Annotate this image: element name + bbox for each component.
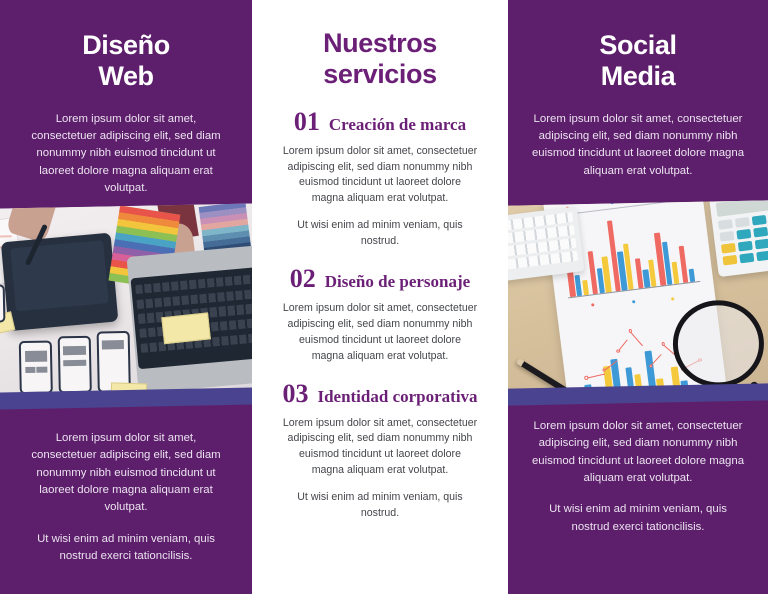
panel-diseno-web: Diseño Web Lorem ipsum dolor sit amet, c… [0, 0, 252, 594]
mid-title-line1: Nuestros [252, 28, 508, 59]
service-number: 03 [282, 381, 308, 407]
service-heading: 01 Creación de marca [252, 109, 508, 135]
right-panel-title: Social Media [508, 0, 768, 93]
right-panel-photo [508, 200, 768, 396]
right-bottom-paragraph-1: Lorem ipsum dolor sit amet, consectetuer… [530, 418, 746, 487]
right-intro-paragraph-1: Lorem ipsum dolor sit amet, consectetuer… [530, 111, 746, 180]
panel-social-media: Social Media Lorem ipsum dolor sit amet,… [508, 0, 768, 594]
left-bottom-paragraph-2: Ut wisi enim ad minim veniam, quis nostr… [22, 531, 230, 566]
panel-nuestros-servicios: Nuestros servicios 01 Creación de marca … [252, 0, 508, 594]
left-title-line2: Web [0, 61, 252, 92]
service-item: 01 Creación de marca Lorem ipsum dolor s… [252, 109, 508, 250]
left-panel-photo [0, 203, 252, 399]
middle-panel-title: Nuestros servicios [252, 0, 508, 91]
service-paragraph-1: Lorem ipsum dolor sit amet, consectetuer… [282, 301, 478, 365]
services-list: 01 Creación de marca Lorem ipsum dolor s… [252, 109, 508, 522]
mid-title-line2: servicios [252, 59, 508, 90]
service-heading: 03 Identidad corporativa [252, 381, 508, 407]
trifold-brochure: Diseño Web Lorem ipsum dolor sit amet, c… [0, 0, 768, 594]
service-number: 01 [294, 109, 320, 135]
service-name: Creación de marca [329, 116, 466, 133]
right-title-line2: Media [508, 61, 768, 92]
service-heading: 02 Diseño de personaje [252, 266, 508, 292]
left-intro-paragraph-1: Lorem ipsum dolor sit amet, consectetuer… [22, 111, 230, 198]
right-title-line1: Social [508, 30, 768, 61]
right-bottom-paragraph-2: Ut wisi enim ad minim veniam, quis nostr… [530, 501, 746, 536]
left-bottom-paragraph-1: Lorem ipsum dolor sit amet, consectetuer… [22, 430, 230, 517]
left-panel-bottom-text: Lorem ipsum dolor sit amet, consectetuer… [0, 412, 252, 565]
service-paragraph-1: Lorem ipsum dolor sit amet, consectetuer… [282, 144, 478, 208]
service-description: Lorem ipsum dolor sit amet, consectetuer… [252, 301, 508, 365]
service-item: 03 Identidad corporativa Lorem ipsum dol… [252, 381, 508, 522]
left-panel-title: Diseño Web [0, 0, 252, 93]
right-panel-intro-text: Lorem ipsum dolor sit amet, consectetuer… [508, 111, 768, 180]
service-number: 02 [290, 266, 316, 292]
service-name: Identidad corporativa [317, 388, 477, 405]
service-paragraph-2: Ut wisi enim ad minim veniam, quis nostr… [282, 490, 478, 522]
service-name: Diseño de personaje [325, 273, 470, 290]
right-panel-bottom-text: Lorem ipsum dolor sit amet, consectetuer… [508, 400, 768, 536]
service-item: 02 Diseño de personaje Lorem ipsum dolor… [252, 266, 508, 365]
service-description: Lorem ipsum dolor sit amet, consectetuer… [252, 416, 508, 522]
left-title-line1: Diseño [0, 30, 252, 61]
service-paragraph-2: Ut wisi enim ad minim veniam, quis nostr… [282, 218, 478, 250]
service-description: Lorem ipsum dolor sit amet, consectetuer… [252, 144, 508, 250]
service-paragraph-1: Lorem ipsum dolor sit amet, consectetuer… [282, 416, 478, 480]
